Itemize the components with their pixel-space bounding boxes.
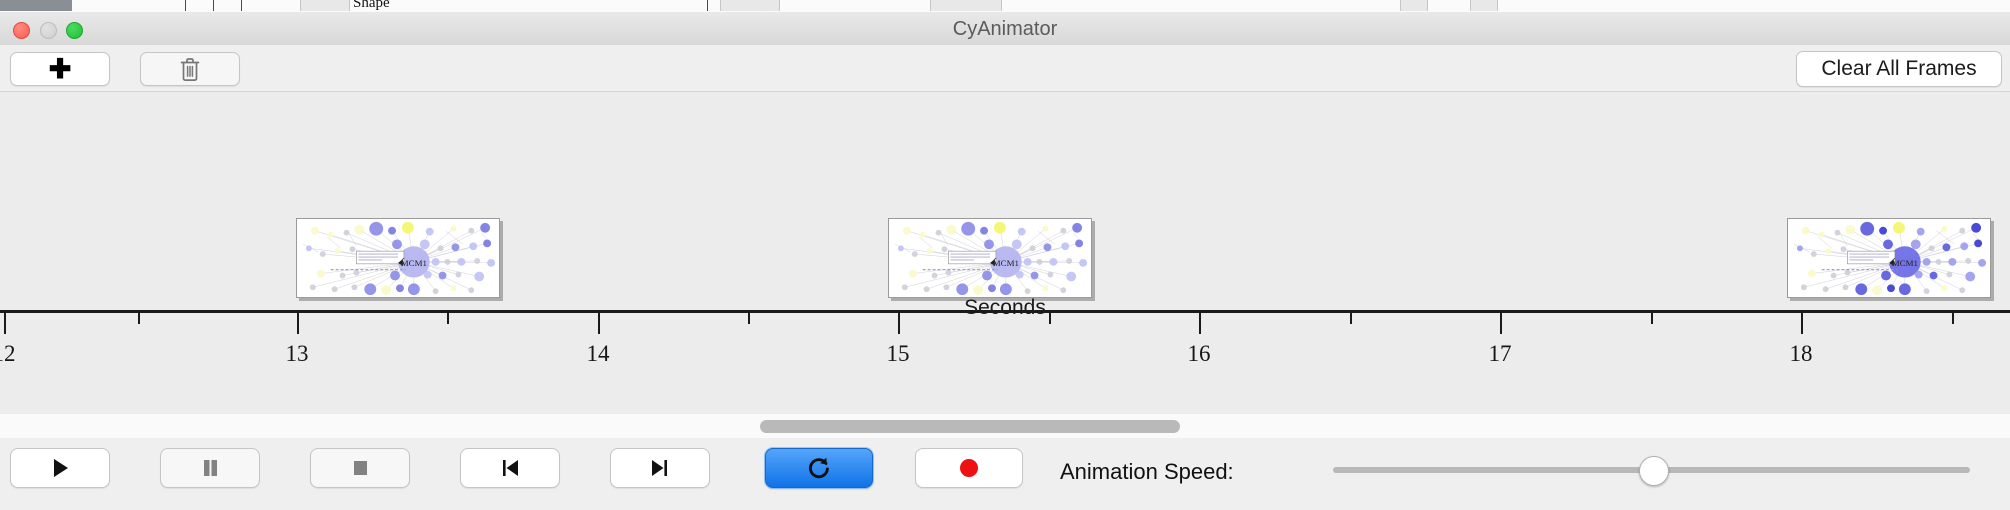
- background-cell: [300, 0, 350, 11]
- background-tick: [707, 0, 708, 11]
- axis-tick-label: 16: [1188, 341, 1211, 367]
- record-icon: [956, 455, 982, 481]
- background-cell: [1400, 0, 1428, 11]
- axis-title: Seconds: [0, 296, 2010, 320]
- svg-text:MCM1: MCM1: [401, 258, 427, 268]
- play-button[interactable]: [10, 448, 110, 488]
- window-title: CyAnimator: [0, 18, 2010, 41]
- animation-speed-slider-thumb[interactable]: [1639, 456, 1669, 486]
- clear-all-frames-button[interactable]: Clear All Frames: [1796, 51, 2002, 87]
- background-window-titlebar-fragment: [0, 0, 72, 11]
- axis-tick-label: 17: [1489, 341, 1512, 367]
- background-cell: [1470, 0, 1498, 11]
- delete-frame-button[interactable]: [140, 52, 240, 86]
- record-button[interactable]: [915, 448, 1023, 488]
- background-cell: [720, 0, 780, 11]
- frame-thumbnail-1[interactable]: MCM1: [296, 218, 500, 298]
- axis-tick-label: 12: [0, 341, 16, 367]
- cyanimator-window: Shape CyAnimator ✚ Clear All Frames MCM1…: [0, 0, 2010, 510]
- frame-thumbnail-3[interactable]: MCM1: [1787, 218, 1991, 298]
- skip-end-button[interactable]: [610, 448, 710, 488]
- animation-speed-label: Animation Speed:: [1060, 459, 1234, 485]
- axis-tick-label: 13: [286, 341, 309, 367]
- trash-icon: [179, 56, 201, 82]
- add-frame-button[interactable]: ✚: [10, 52, 110, 86]
- title-bar: CyAnimator: [0, 12, 2010, 46]
- svg-text:MCM1: MCM1: [993, 258, 1019, 268]
- background-tick: [241, 0, 242, 11]
- skip-start-button[interactable]: [460, 448, 560, 488]
- stop-button[interactable]: [310, 448, 410, 488]
- loop-icon: [805, 454, 833, 482]
- plus-icon: ✚: [49, 56, 72, 83]
- axis-tick-label: 15: [887, 341, 910, 367]
- background-tick: [185, 0, 186, 11]
- skip-forward-icon: [647, 455, 673, 481]
- timeline-scrollbar[interactable]: [0, 414, 2010, 439]
- stop-icon: [347, 455, 373, 481]
- background-window-label: Shape: [353, 0, 390, 12]
- toolbar: ✚ Clear All Frames: [0, 45, 2010, 92]
- transport-bar: Animation Speed:: [0, 438, 2010, 510]
- background-cell: [930, 0, 1002, 11]
- timeline-divider: [0, 91, 2010, 92]
- skip-back-icon: [497, 455, 523, 481]
- pause-icon: [197, 455, 223, 481]
- timeline-panel[interactable]: MCM1MCM1MCM1 12131415161718 Seconds: [0, 91, 2010, 415]
- axis-tick-label: 18: [1790, 341, 1813, 367]
- svg-text:MCM1: MCM1: [1892, 258, 1918, 268]
- play-icon: [47, 455, 73, 481]
- frame-thumbnail-2[interactable]: MCM1: [888, 218, 1092, 298]
- pause-button[interactable]: [160, 448, 260, 488]
- timeline-scrollbar-thumb[interactable]: [760, 420, 1180, 433]
- axis-tick-label: 14: [587, 341, 610, 367]
- background-tick: [213, 0, 214, 11]
- loop-button[interactable]: [765, 448, 873, 488]
